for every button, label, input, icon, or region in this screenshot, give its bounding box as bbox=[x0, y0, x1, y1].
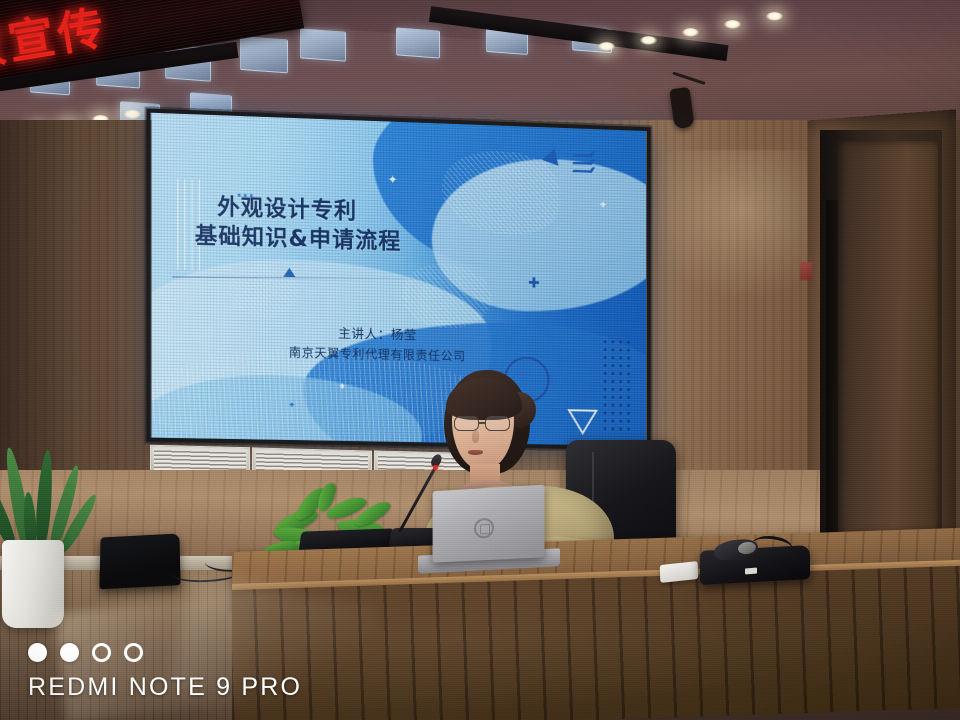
watermark-dot bbox=[92, 643, 111, 662]
ceiling-square-light bbox=[300, 28, 346, 61]
laptop-logo-icon bbox=[474, 518, 494, 539]
desk-front-panel bbox=[232, 566, 960, 720]
plus-mark-icon: ✦ bbox=[288, 401, 296, 411]
glasses-bridge bbox=[479, 422, 485, 424]
plus-mark-icon: ✦ bbox=[598, 199, 607, 212]
plus-mark-icon: ✦ bbox=[338, 382, 346, 393]
floor-speaker bbox=[99, 533, 180, 589]
watermark-dots bbox=[28, 643, 302, 662]
ceiling-downlight bbox=[598, 42, 615, 51]
ceiling-downlight bbox=[124, 110, 141, 119]
watermark-dot bbox=[60, 643, 79, 662]
slide-title-line-2: 基础知识&申请流程 bbox=[195, 221, 402, 256]
plus-mark-icon: ✚ bbox=[528, 276, 540, 292]
door-leaf[interactable] bbox=[838, 141, 938, 579]
ceiling-downlight bbox=[682, 28, 699, 37]
nose bbox=[472, 430, 479, 443]
slide-triangle-marker-icon bbox=[283, 267, 295, 276]
photo-scene: 权宣传 bbox=[0, 0, 960, 720]
plus-mark-icon: ✦ bbox=[388, 173, 398, 187]
laptop-screen[interactable] bbox=[433, 485, 545, 563]
ceiling-downlight bbox=[724, 20, 741, 29]
glasses-lens bbox=[485, 416, 510, 431]
glasses-icon bbox=[452, 416, 514, 432]
plant-pot bbox=[2, 540, 64, 628]
slide-presenter-block: 主讲人：杨莹 南京天翼专利代理有限责任公司 bbox=[238, 320, 516, 369]
camera-watermark: REDMI NOTE 9 PRO bbox=[28, 643, 302, 702]
ceiling-square-light bbox=[240, 36, 288, 74]
ceiling-downlight bbox=[766, 12, 783, 21]
ceiling-downlight bbox=[640, 36, 657, 45]
equipment-bag-tag bbox=[745, 568, 757, 575]
watermark-brand-text: REDMI NOTE 9 PRO bbox=[28, 673, 302, 702]
watermark-dot bbox=[124, 643, 143, 662]
mouth bbox=[468, 450, 483, 455]
ceiling-square-light bbox=[396, 27, 440, 58]
slide-title: 外观设计专利 基础知识&申请流程 bbox=[195, 192, 402, 257]
chevron-down-icon bbox=[574, 151, 595, 177]
microphone-indicator-light bbox=[433, 465, 438, 470]
watermark-dot bbox=[28, 643, 47, 662]
exit-sign bbox=[800, 262, 812, 280]
glasses-lens bbox=[454, 416, 479, 431]
